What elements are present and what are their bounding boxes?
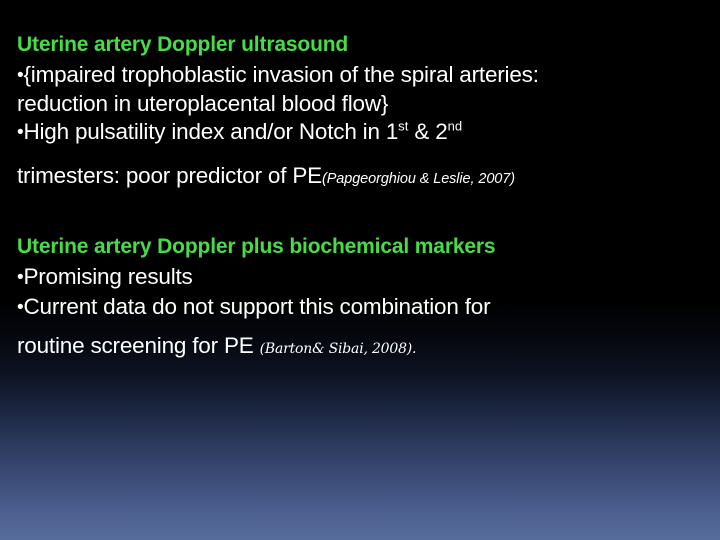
section1-bullet-1: •{impaired trophoblastic invasion of the… — [17, 60, 539, 91]
section2-bullet-1-text: Promising results — [23, 264, 192, 289]
section2-heading: Uterine artery Doppler plus biochemical … — [17, 232, 495, 262]
section1-line-4: trimesters: poor predictor of PE(Papgeor… — [17, 162, 515, 193]
section1-bullet-2: •High pulsatility index and/or Notch in … — [17, 118, 462, 147]
ordinal-suffix-second: nd — [448, 119, 463, 134]
section1-bullet-1-text: {impaired trophoblastic invasion of the … — [23, 62, 538, 87]
section1-line-4-text: trimesters: poor predictor of PE — [17, 163, 322, 188]
section2-citation: (Barton& Sibai, 2008). — [260, 341, 417, 357]
section1-bullet-2-text: High pulsatility index and/or Notch in 1 — [23, 119, 398, 144]
section2-bullet-2-text: Current data do not support this combina… — [23, 294, 490, 319]
section1-line-2: reduction in uteroplacental blood flow} — [17, 89, 388, 119]
section1-citation: (Papgeorghiou & Leslie, 2007) — [322, 171, 515, 187]
section1-bullet-2-mid: & 2 — [408, 119, 447, 144]
section2-line-3: routine screening for PE (Barton& Sibai,… — [17, 332, 416, 363]
section2-bullet-2: •Current data do not support this combin… — [17, 292, 490, 323]
section2-bullet-1: •Promising results — [17, 262, 193, 293]
section2-line-3-text: routine screening for PE — [17, 333, 260, 358]
ordinal-suffix-first: st — [398, 119, 408, 134]
slide-canvas: Uterine artery Doppler ultrasound •{impa… — [0, 0, 720, 540]
section1-heading: Uterine artery Doppler ultrasound — [17, 30, 348, 60]
